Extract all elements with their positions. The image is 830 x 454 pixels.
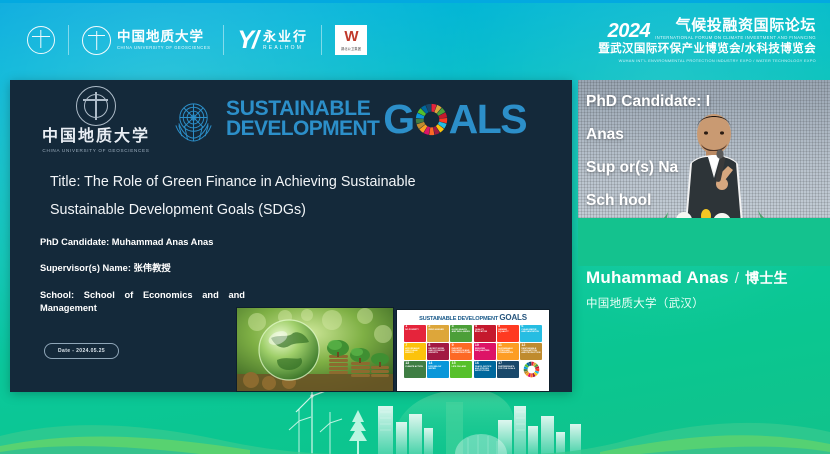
sdg-goal-tile-14: 14LIFE BELOW WATER [427, 361, 449, 378]
partner-logo: W 湖北公卫集团 [322, 21, 380, 59]
sdg-goal-tile-16: 16PEACE JUSTICE AND STRONG INSTITUTIONS [474, 361, 496, 378]
sdg-goal-tile-3: 3GOOD HEALTH AND WELL-BEING [450, 325, 472, 342]
speaker-name-row: Muhammad Anas / 博士生 [586, 268, 826, 288]
sdg-17-goals-grid: SUSTAINABLE DEVELOPMENT GOALS 1NO POVERT… [396, 309, 550, 392]
realhom-mark-icon: Y/ [237, 28, 257, 53]
sdg-goal-label: QUALITY EDUCATION [475, 329, 494, 333]
sdg-goal-tile-12: 12RESPONSIBLE CONSUMPTION AND PRODUCTION [520, 343, 542, 360]
page-header: 中国地质大学 CHINA UNIVERSITY OF GEOSCIENCES Y… [0, 0, 830, 72]
banner-sub-en: WUHAN INT'L ENVIRONMENTAL PROTECTION IND… [598, 59, 816, 63]
slide-title-line1: Title: The Role of Green Finance in Achi… [50, 168, 546, 196]
sdg-goal-label: SUSTAINABLE CITIES AND COMMUNITIES [498, 348, 517, 355]
caption-separator: / [735, 270, 739, 287]
sdg-logo: SUSTAINABLE DEVELOPMENT G ALS [170, 96, 526, 143]
sdg-color-wheel-icon [415, 103, 448, 136]
sdg-goal-tile-11: 11SUSTAINABLE CITIES AND COMMUNITIES [497, 343, 519, 360]
slide-candidate: PhD Candidate: Muhammad Anas Anas [40, 236, 245, 249]
partner-logo-box: W 湖北公卫集团 [335, 25, 367, 55]
sdg-goal-tile-10: 10REDUCED INEQUALITIES [474, 343, 496, 360]
cug-logo: 中国地质大学 CHINA UNIVERSITY OF GEOSCIENCES [69, 21, 223, 59]
sdg-goal-tile-6: 6CLEAN WATER AND SANITATION [520, 325, 542, 342]
banner-title-en: INTERNATIONAL FORUM ON CLIMATE INVESTMEN… [655, 36, 816, 40]
sdg-goal-label: DECENT WORK AND ECONOMIC GROWTH [428, 348, 447, 355]
sdg-goal-tile-17: 17PARTNERSHIPS FOR THE GOALS [497, 361, 519, 378]
sdg-goal-label: ZERO HUNGER [428, 329, 447, 331]
slide-meta-block: PhD Candidate: Muhammad Anas Anas Superv… [40, 236, 245, 329]
banner-title-cn: 气候投融资国际论坛 [655, 18, 816, 33]
slide-date-badge: Date - 2024.05.25 [44, 343, 119, 359]
sdg-goal-tile-1: 1NO POVERTY [404, 325, 426, 342]
realhom-logo-en: REALHOM [263, 46, 308, 51]
realhom-logo: Y/ 永业行 REALHOM [224, 21, 321, 59]
slide-title-line2: Sustainable Development Goals (SDGs) [50, 196, 546, 224]
slide-supervisor: Supervisor(s) Name: 张伟教授 [40, 262, 245, 275]
cug-seal-icon [82, 26, 111, 55]
sdg-goal-label: GOOD HEALTH AND WELL-BEING [452, 329, 471, 333]
forum-emblem-logo [14, 21, 68, 59]
sdg-goal-tile-7: 7AFFORDABLE AND CLEAN ENERGY [404, 343, 426, 360]
sdg-goal-label: LIFE ON LAND [452, 366, 471, 368]
sdg-goal-label: PEACE JUSTICE AND STRONG INSTITUTIONS [475, 366, 494, 373]
sdg-goal-tile-13: 13CLIMATE ACTION [404, 361, 426, 378]
sdg-goal-tile-9: 9INDUSTRY INNOVATION AND INFRASTRUCTURE [450, 343, 472, 360]
sdg-goal-tile-4: 4QUALITY EDUCATION [474, 325, 496, 342]
presentation-slide[interactable]: 中国地质大学 CHINA UNIVERSITY OF GEOSCIENCES [10, 80, 572, 392]
video-lower-band [578, 218, 830, 266]
realhom-logo-cn: 永业行 [263, 30, 308, 43]
cug-logo-en: CHINA UNIVERSITY OF GEOSCIENCES [117, 46, 210, 50]
sdg-goal-label: REDUCED INEQUALITIES [475, 348, 494, 352]
slide-cug-logo: 中国地质大学 CHINA UNIVERSITY OF GEOSCIENCES [32, 86, 160, 153]
speaker-organization: 中国地质大学（武汉） [586, 295, 826, 311]
forum-emblem-icon [27, 26, 55, 54]
speaker-caption: Muhammad Anas / 博士生 中国地质大学（武汉） [586, 268, 826, 311]
slide-logo-row: 中国地质大学 CHINA UNIVERSITY OF GEOSCIENCES [32, 88, 558, 150]
event-banner: 2024 气候投融资国际论坛 INTERNATIONAL FORUM ON CL… [598, 18, 816, 63]
sdg-goal-tile-2: 2ZERO HUNGER [427, 325, 449, 342]
sdg-goal-tile-5: 5GENDER EQUALITY [497, 325, 519, 342]
sdg-letters-als: ALS [449, 99, 527, 140]
slide-title: Title: The Role of Green Finance in Achi… [50, 168, 546, 225]
speaker-role: 博士生 [745, 268, 788, 288]
banner-sub-cn: 暨武汉国际环保产业博览会/水科技博览会 [598, 44, 816, 56]
sdg-goal-label: RESPONSIBLE CONSUMPTION AND PRODUCTION [521, 348, 540, 355]
sdg-goal-label: NO POVERTY [405, 329, 424, 331]
sponsor-logo-bar: 中国地质大学 CHINA UNIVERSITY OF GEOSCIENCES Y… [14, 21, 380, 59]
sdg-letter-g: G [383, 99, 413, 140]
cug-logo-cn: 中国地质大学 [117, 30, 210, 44]
sdg-goals-word: G ALS [383, 99, 526, 140]
screen: 中国地质大学 CHINA UNIVERSITY OF GEOSCIENCES Y… [0, 0, 830, 454]
partner-mark-icon: W [344, 29, 357, 44]
slide-cug-cn: 中国地质大学 [42, 129, 150, 145]
un-emblem-icon [170, 96, 217, 143]
sdg-goal-label: PARTNERSHIPS FOR THE GOALS [498, 366, 517, 370]
sdg-goal-label: LIFE BELOW WATER [428, 366, 447, 370]
slide-school: School: School of Economics and and Mana… [40, 289, 245, 316]
speaker-video-panel[interactable]: PhD Candidate: I Anas Sup or(s) Na Sch h… [578, 80, 830, 266]
partner-logo-sub: 湖北公卫集团 [341, 46, 361, 51]
sdg-grid-heading-big: GOALS [499, 313, 526, 322]
cug-seal-icon [76, 86, 116, 126]
speaker-name: Muhammad Anas [586, 268, 729, 288]
sdg-goal-label: CLEAN WATER AND SANITATION [521, 329, 540, 333]
sdg-goal-label: CLIMATE ACTION [405, 366, 424, 368]
sdg-goal-label: INDUSTRY INNOVATION AND INFRASTRUCTURE [452, 348, 471, 355]
sdg-line2: DEVELOPMENT [226, 119, 379, 139]
sdg-goal-tiles: 1NO POVERTY2ZERO HUNGER3GOOD HEALTH AND … [401, 325, 545, 381]
sdg-goal-tile-15: 15LIFE ON LAND [450, 361, 472, 378]
banner-year: 2024 [608, 22, 651, 40]
sdg-goal-label: GENDER EQUALITY [498, 329, 517, 333]
green-finance-globe-photo [236, 307, 394, 392]
sdg-color-wheel-tile [520, 361, 542, 378]
sdg-goal-tile-8: 8DECENT WORK AND ECONOMIC GROWTH [427, 343, 449, 360]
slide-cug-en: CHINA UNIVERSITY OF GEOSCIENCES [42, 148, 149, 153]
sdg-goal-label: AFFORDABLE AND CLEAN ENERGY [405, 348, 424, 355]
sdg-grid-heading-small: SUSTAINABLE DEVELOPMENT [419, 316, 498, 322]
